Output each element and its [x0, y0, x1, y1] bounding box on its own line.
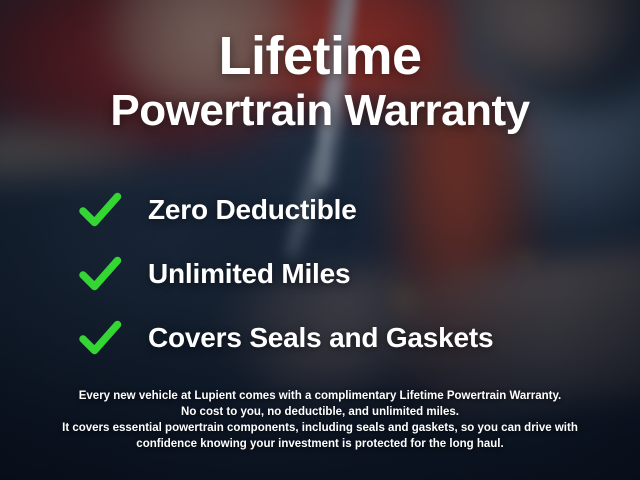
page-title: Lifetime Powertrain Warranty — [0, 28, 640, 136]
body-copy-line: Every new vehicle at Lupient comes with … — [0, 388, 640, 404]
banner-content: Lifetime Powertrain Warranty Zero Deduct… — [0, 0, 640, 480]
headline-line-2: Powertrain Warranty — [0, 86, 640, 136]
feature-list: Zero Deductible Unlimited Miles Covers S… — [0, 178, 640, 370]
headline-line-1: Lifetime — [0, 28, 640, 84]
body-copy-line: It covers essential powertrain component… — [0, 420, 640, 436]
feature-label: Covers Seals and Gaskets — [148, 322, 493, 354]
body-copy-line: No cost to you, no deductible, and unlim… — [0, 404, 640, 420]
check-icon — [78, 316, 122, 360]
body-copy: Every new vehicle at Lupient comes with … — [0, 388, 640, 452]
check-icon — [78, 252, 122, 296]
body-copy-line: confidence knowing your investment is pr… — [0, 436, 640, 452]
warranty-promo-banner: Lifetime Powertrain Warranty Zero Deduct… — [0, 0, 640, 480]
feature-label: Unlimited Miles — [148, 258, 350, 290]
feature-label: Zero Deductible — [148, 194, 357, 226]
feature-item-unlimited-miles: Unlimited Miles — [0, 242, 640, 306]
feature-item-zero-deductible: Zero Deductible — [0, 178, 640, 242]
check-icon — [78, 188, 122, 232]
feature-item-covers-seals-and-gaskets: Covers Seals and Gaskets — [0, 306, 640, 370]
